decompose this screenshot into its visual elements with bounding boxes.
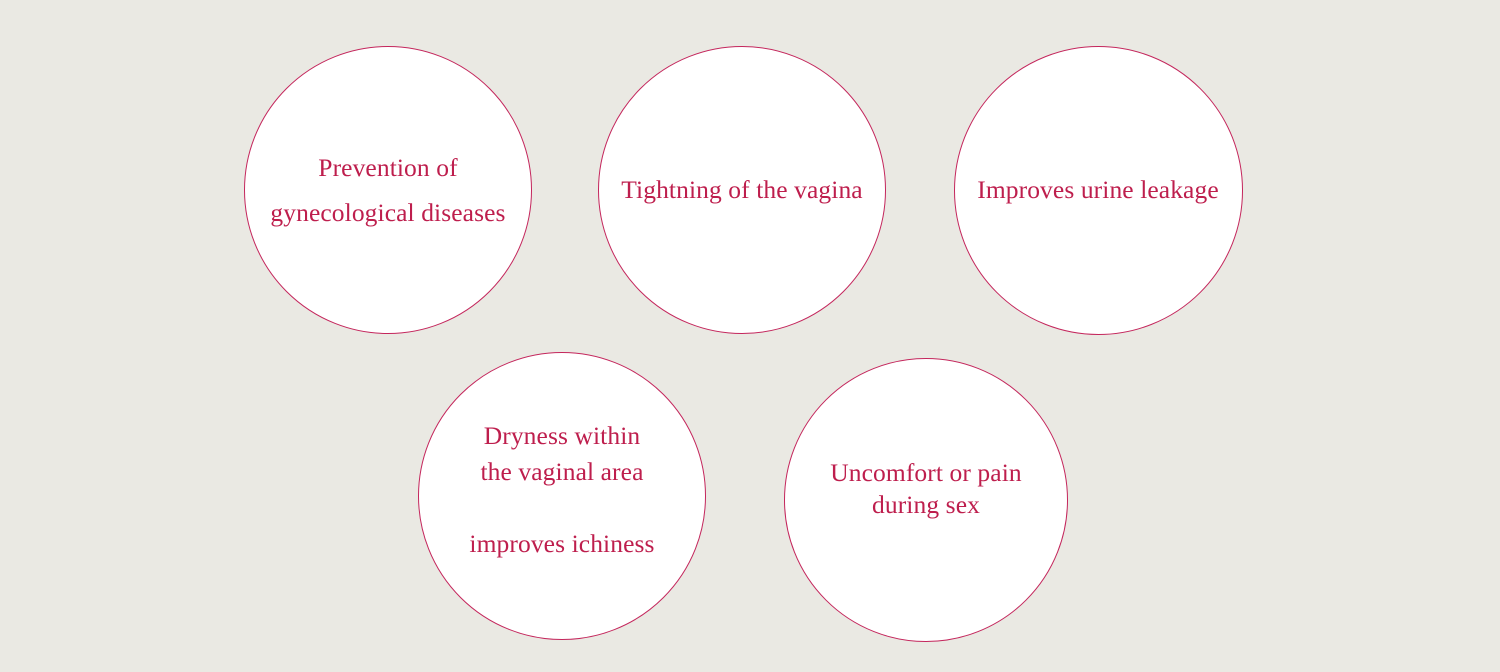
circle-diagram-canvas: Prevention of gynecological diseases Tig… bbox=[0, 0, 1500, 672]
circle-label-tightning-of-the-vagina: Tightning of the vagina bbox=[619, 174, 864, 205]
circle-label-improves-urine-leakage: Improves urine leakage bbox=[975, 174, 1221, 205]
circle-label-uncomfort-or-pain-during-sex: Uncomfort or pain during sex bbox=[828, 457, 1023, 521]
circle-label-prevention-of-gynecological-diseases: Prevention of gynecological diseases bbox=[268, 145, 507, 236]
circle-prevention-of-gynecological-diseases[interactable]: Prevention of gynecological diseases bbox=[244, 46, 532, 334]
circle-uncomfort-or-pain-during-sex[interactable]: Uncomfort or pain during sex bbox=[784, 358, 1068, 642]
circle-improves-urine-leakage[interactable]: Improves urine leakage bbox=[954, 46, 1243, 335]
circle-dryness-within-the-vaginal-area[interactable]: Dryness within the vaginal area improves… bbox=[418, 352, 706, 640]
circle-tightning-of-the-vagina[interactable]: Tightning of the vagina bbox=[598, 46, 886, 334]
circle-label-dryness-within-the-vaginal-area: Dryness within the vaginal area improves… bbox=[467, 418, 656, 563]
